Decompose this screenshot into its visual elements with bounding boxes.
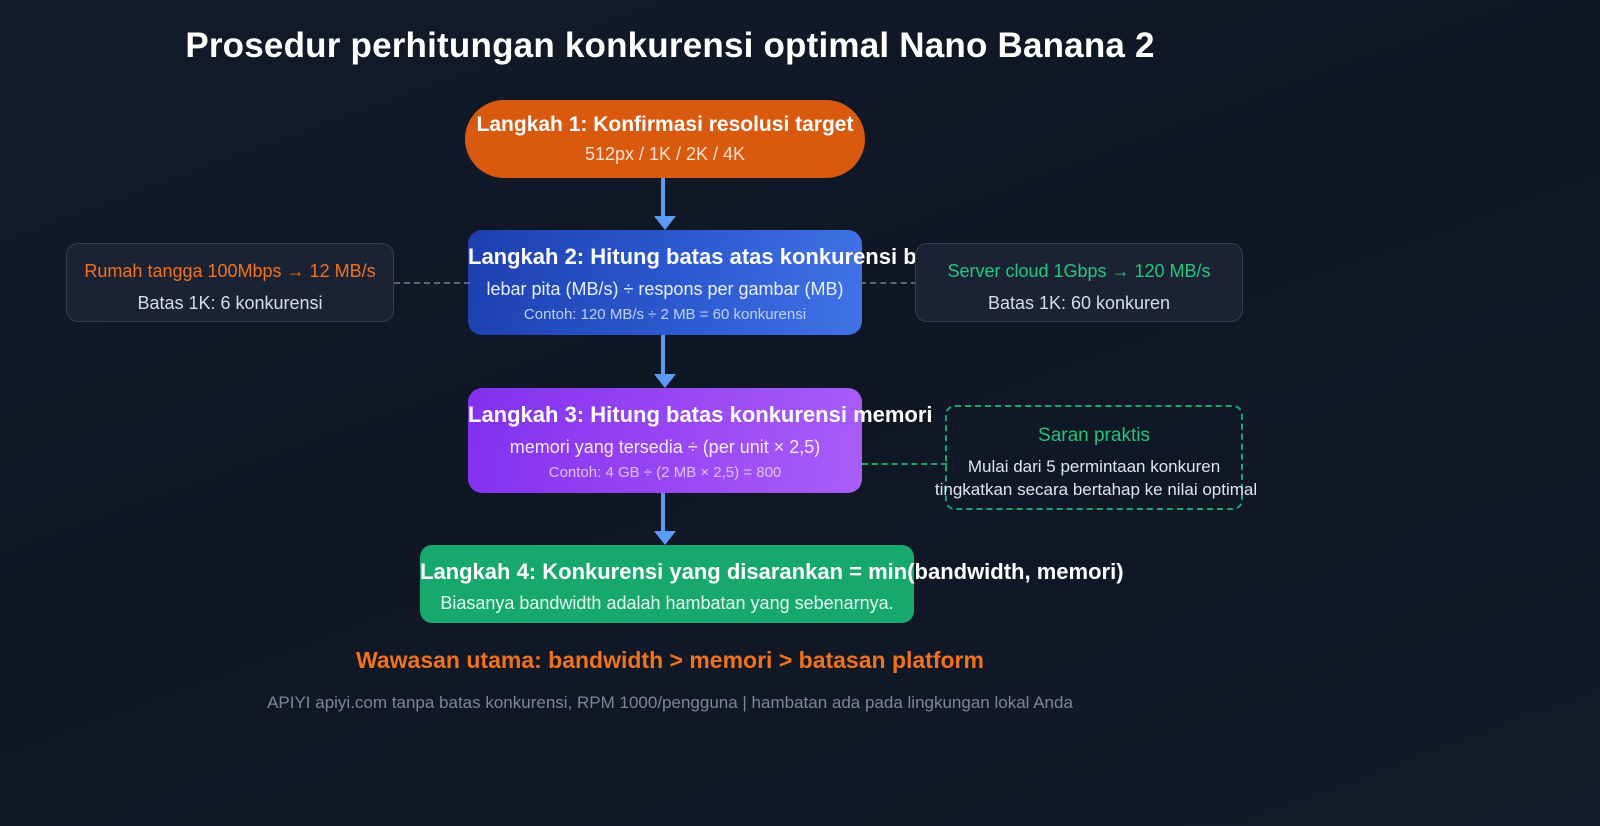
node-step-4: Langkah 4: Konkurensi yang disarankan = … [420,545,914,623]
side-box-household-title: Rumah tangga 100Mbps → 12 MB/s [67,261,393,283]
node-step-1-subtitle: 512px / 1K / 2K / 4K [465,143,865,166]
node-step-3-example: Contoh: 4 GB ÷ (2 MB × 2,5) = 800 [468,464,862,483]
node-step-2-title: Langkah 2: Hitung batas atas konkurensi … [468,244,862,269]
connector-step3-to-step4-arrow [654,531,676,545]
tip-box-line-1: Mulai dari 5 permintaan konkuren [947,456,1241,478]
side-box-cloud-server-subtitle: Batas 1K: 60 konkuren [916,293,1242,315]
connector-left-box-dashed [394,282,470,284]
node-step-1-title: Langkah 1: Konfirmasi resolusi target [465,113,865,137]
connector-tip-box-dashed [862,463,947,465]
tip-box-title: Saran praktis [947,425,1241,448]
side-box-household-subtitle: Batas 1K: 6 konkurensi [67,293,393,315]
connector-step1-to-step2-arrow [654,216,676,230]
node-step-2: Langkah 2: Hitung batas atas konkurensi … [468,230,862,335]
node-step-2-example: Contoh: 120 MB/s ÷ 2 MB = 60 konkurensi [468,306,862,325]
tip-box-practical-advice: Saran praktis Mulai dari 5 permintaan ko… [945,405,1243,510]
connector-step1-to-step2-line [661,178,665,216]
node-step-3-title: Langkah 3: Hitung batas konkurensi memor… [468,402,862,427]
tip-box-line-2: tingkatkan secara bertahap ke nilai opti… [912,479,1280,501]
node-step-1: Langkah 1: Konfirmasi resolusi target 51… [465,100,865,178]
connector-right-box-dashed [860,282,917,284]
diagram-canvas: Prosedur perhitungan konkurensi optimal … [0,0,1600,826]
key-insight-text: Wawasan utama: bandwidth > memori > bata… [0,647,1340,674]
side-box-cloud-server-title: Server cloud 1Gbps → 120 MB/s [916,261,1242,283]
connector-step2-to-step3-arrow [654,374,676,388]
connector-step3-to-step4-line [661,493,665,531]
node-step-3: Langkah 3: Hitung batas konkurensi memor… [468,388,862,493]
page-title: Prosedur perhitungan konkurensi optimal … [0,26,1340,66]
node-step-4-subtitle: Biasanya bandwidth adalah hambatan yang … [420,592,914,615]
footer-note: APIYI apiyi.com tanpa batas konkurensi, … [0,693,1340,713]
node-step-2-subtitle: lebar pita (MB/s) ÷ respons per gambar (… [468,278,862,301]
side-box-household: Rumah tangga 100Mbps → 12 MB/s Batas 1K:… [66,243,394,322]
side-box-cloud-server: Server cloud 1Gbps → 120 MB/s Batas 1K: … [915,243,1243,322]
node-step-4-title: Langkah 4: Konkurensi yang disarankan = … [420,559,914,584]
node-step-3-subtitle: memori yang tersedia ÷ (per unit × 2,5) [468,436,862,459]
connector-step2-to-step3-line [661,335,665,374]
